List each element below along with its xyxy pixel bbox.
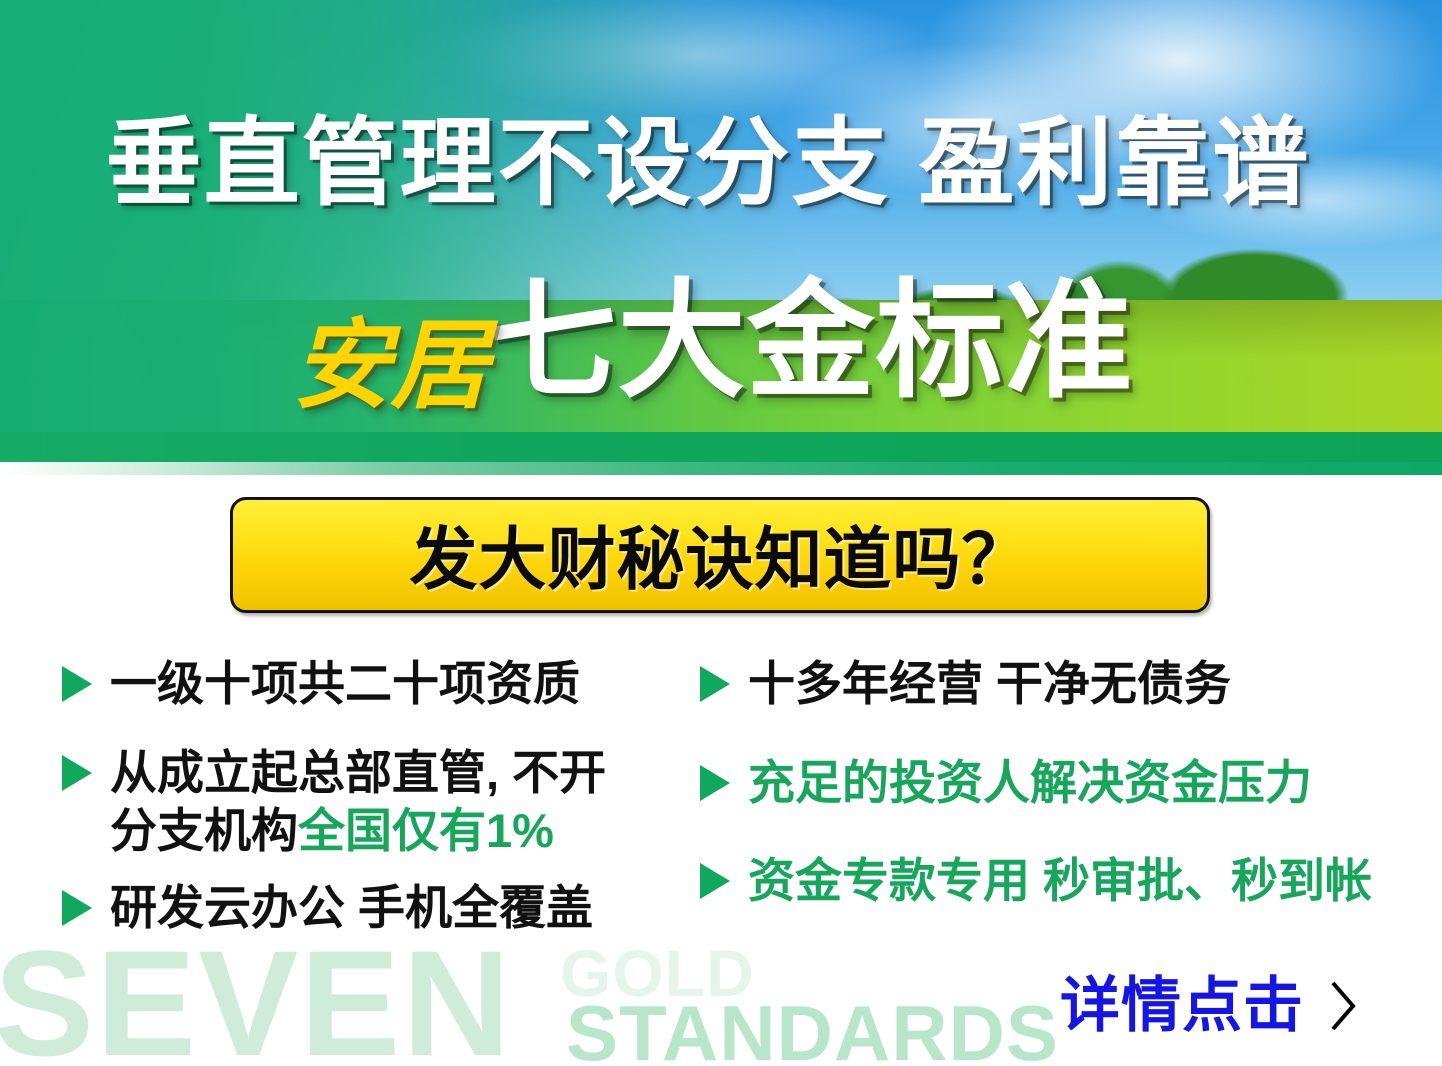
list-item-label: 资金专款专用 秒审批、秒到帐: [748, 852, 1372, 909]
list-item: 从成立起总部直管, 不开 分支机构全国仅有1%: [62, 744, 682, 859]
triangle-right-icon: [62, 890, 92, 926]
hero-fade-divider: [0, 462, 1442, 475]
details-link[interactable]: 详情点击: [1060, 976, 1358, 1036]
details-link-label: 详情点击: [1060, 976, 1304, 1036]
triangle-right-icon: [62, 666, 92, 702]
hero-headline-secondary: 安居七大金标准: [0, 278, 1442, 406]
list-item: 一级十项共二十项资质: [62, 655, 682, 712]
triangle-right-icon: [700, 765, 730, 801]
feature-bullets: 一级十项共二十项资质 从成立起总部直管, 不开 分支机构全国仅有1% 研发云办公…: [0, 655, 1442, 985]
list-item-label: 十多年经营 干净无债务: [748, 655, 1231, 712]
list-item: 研发云办公 手机全覆盖: [62, 879, 682, 936]
list-item-label: 研发云办公 手机全覆盖: [110, 879, 593, 936]
list-item: 资金专款专用 秒审批、秒到帐: [700, 852, 1400, 909]
list-item: 充足的投资人解决资金压力: [700, 754, 1400, 811]
callout-banner[interactable]: 发大财秘诀知道吗？: [230, 497, 1210, 613]
hero-brand-word: 安居: [292, 316, 488, 414]
feature-column-right: 十多年经营 干净无债务 充足的投资人解决资金压力 资金专款专用 秒审批、秒到帐: [700, 655, 1400, 933]
list-item-line-1: 从成立起总部直管, 不开: [110, 746, 606, 799]
list-item: 十多年经营 干净无债务: [700, 655, 1400, 712]
list-item-label: 一级十项共二十项资质: [110, 655, 580, 712]
feature-column-left: 一级十项共二十项资质 从成立起总部直管, 不开 分支机构全国仅有1% 研发云办公…: [62, 655, 682, 960]
hero-headline-primary: 垂直管理不设分支 盈利靠谱: [0, 116, 1442, 212]
chevron-right-icon: [1328, 979, 1358, 1033]
hero-headline-main-words: 七大金标准: [489, 278, 1134, 406]
list-item-label: 充足的投资人解决资金压力: [748, 754, 1312, 811]
triangle-right-icon: [700, 863, 730, 899]
promo-banner-page: 垂直管理不设分支 盈利靠谱 安居七大金标准 发大财秘诀知道吗？ SEVEN GO…: [0, 0, 1442, 1066]
list-item-line-2-black: 分支机构: [110, 804, 298, 857]
hero-photo-banner: 垂直管理不设分支 盈利靠谱 安居七大金标准: [0, 0, 1442, 462]
hero-bottom-green-strip: [0, 432, 1442, 462]
watermark-standards: STANDARDS: [566, 994, 1059, 1066]
list-item-label: 从成立起总部直管, 不开 分支机构全国仅有1%: [110, 744, 606, 859]
callout-text: 发大财秘诀知道吗？: [409, 504, 1030, 603]
list-item-line-2-highlight: 全国仅有1%: [298, 804, 554, 857]
triangle-right-icon: [700, 666, 730, 702]
triangle-right-icon: [62, 755, 92, 791]
